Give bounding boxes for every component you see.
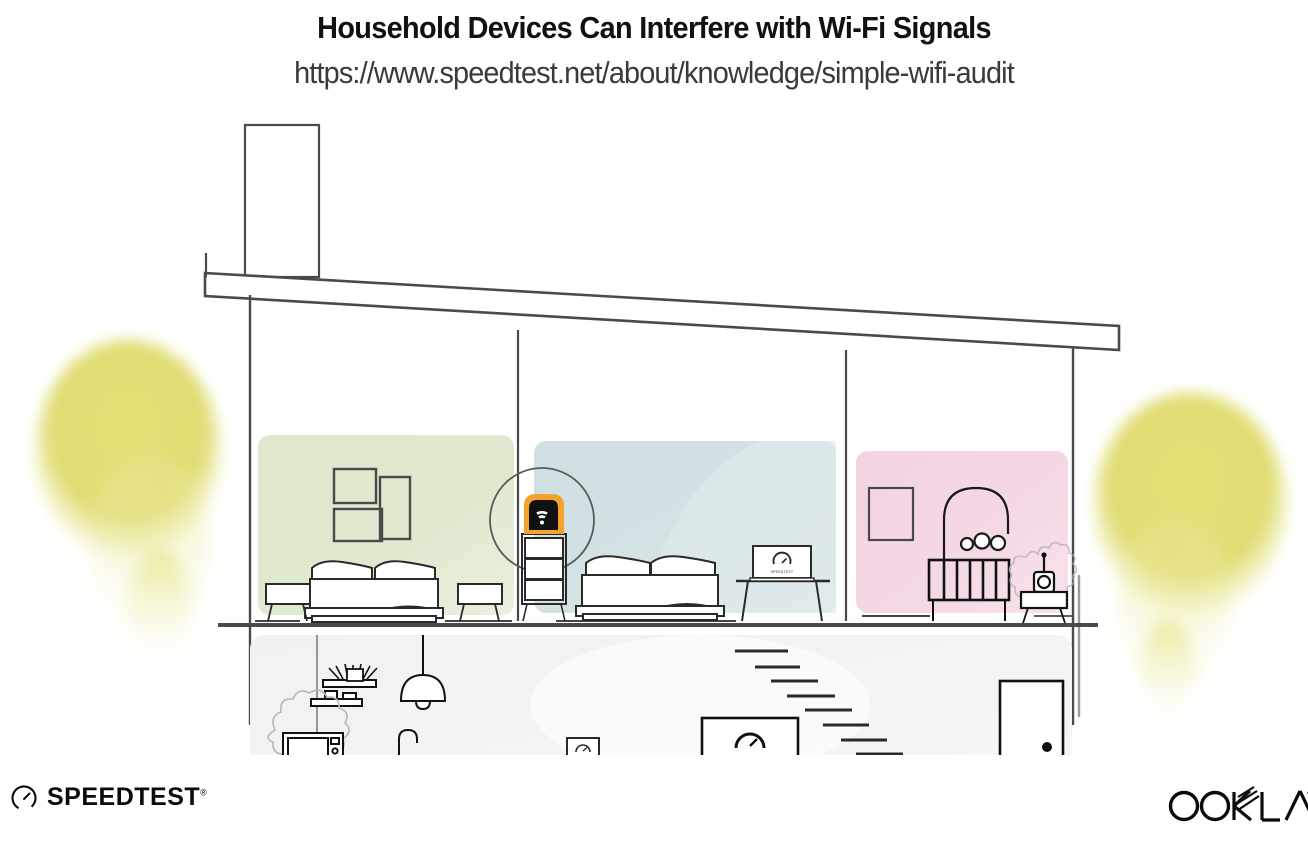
speedtest-gauge-icon bbox=[10, 784, 38, 812]
page-footer: SPEEDTEST® bbox=[0, 761, 1308, 861]
door-knob-icon bbox=[1042, 742, 1052, 752]
laptop-screen-label: SPEEDTEST bbox=[771, 570, 794, 574]
chimney bbox=[245, 125, 319, 277]
room-main-floor: SPEEDTEST bbox=[250, 635, 1072, 755]
speedtest-wordmark: SPEEDTEST® bbox=[47, 783, 207, 812]
speedtest-logo[interactable]: SPEEDTEST® bbox=[10, 783, 207, 812]
laptop-bedroom[interactable]: SPEEDTEST bbox=[750, 546, 814, 581]
tree-left bbox=[36, 340, 220, 660]
page-title: Household Devices Can Interfere with Wi-… bbox=[46, 0, 1262, 43]
room-bedroom-green bbox=[255, 435, 514, 622]
nightstand-right bbox=[458, 584, 502, 621]
ookla-logo[interactable] bbox=[1162, 785, 1308, 827]
microwave[interactable] bbox=[283, 733, 343, 755]
illustration-page: Household Devices Can Interfere with Wi-… bbox=[0, 0, 1308, 861]
speedtest-trademark: ® bbox=[200, 788, 207, 798]
tree-right bbox=[1094, 393, 1286, 720]
room-nursery-pink bbox=[856, 451, 1076, 623]
bed-blue bbox=[576, 556, 724, 620]
wifi-router[interactable] bbox=[524, 494, 564, 534]
house-illustration: SPEEDTEST bbox=[0, 105, 1308, 755]
nightstand-left bbox=[266, 584, 310, 621]
bed-green bbox=[305, 561, 443, 622]
page-header: Household Devices Can Interfere with Wi-… bbox=[0, 0, 1308, 88]
source-url: https://www.speedtest.net/about/knowledg… bbox=[46, 43, 1262, 88]
roof bbox=[205, 253, 1119, 350]
room-bedroom-blue: SPEEDTEST bbox=[490, 441, 836, 621]
television[interactable]: SPEEDTEST bbox=[702, 718, 798, 755]
ookla-wordmark-icon bbox=[1162, 785, 1308, 827]
front-door[interactable] bbox=[1000, 681, 1063, 755]
